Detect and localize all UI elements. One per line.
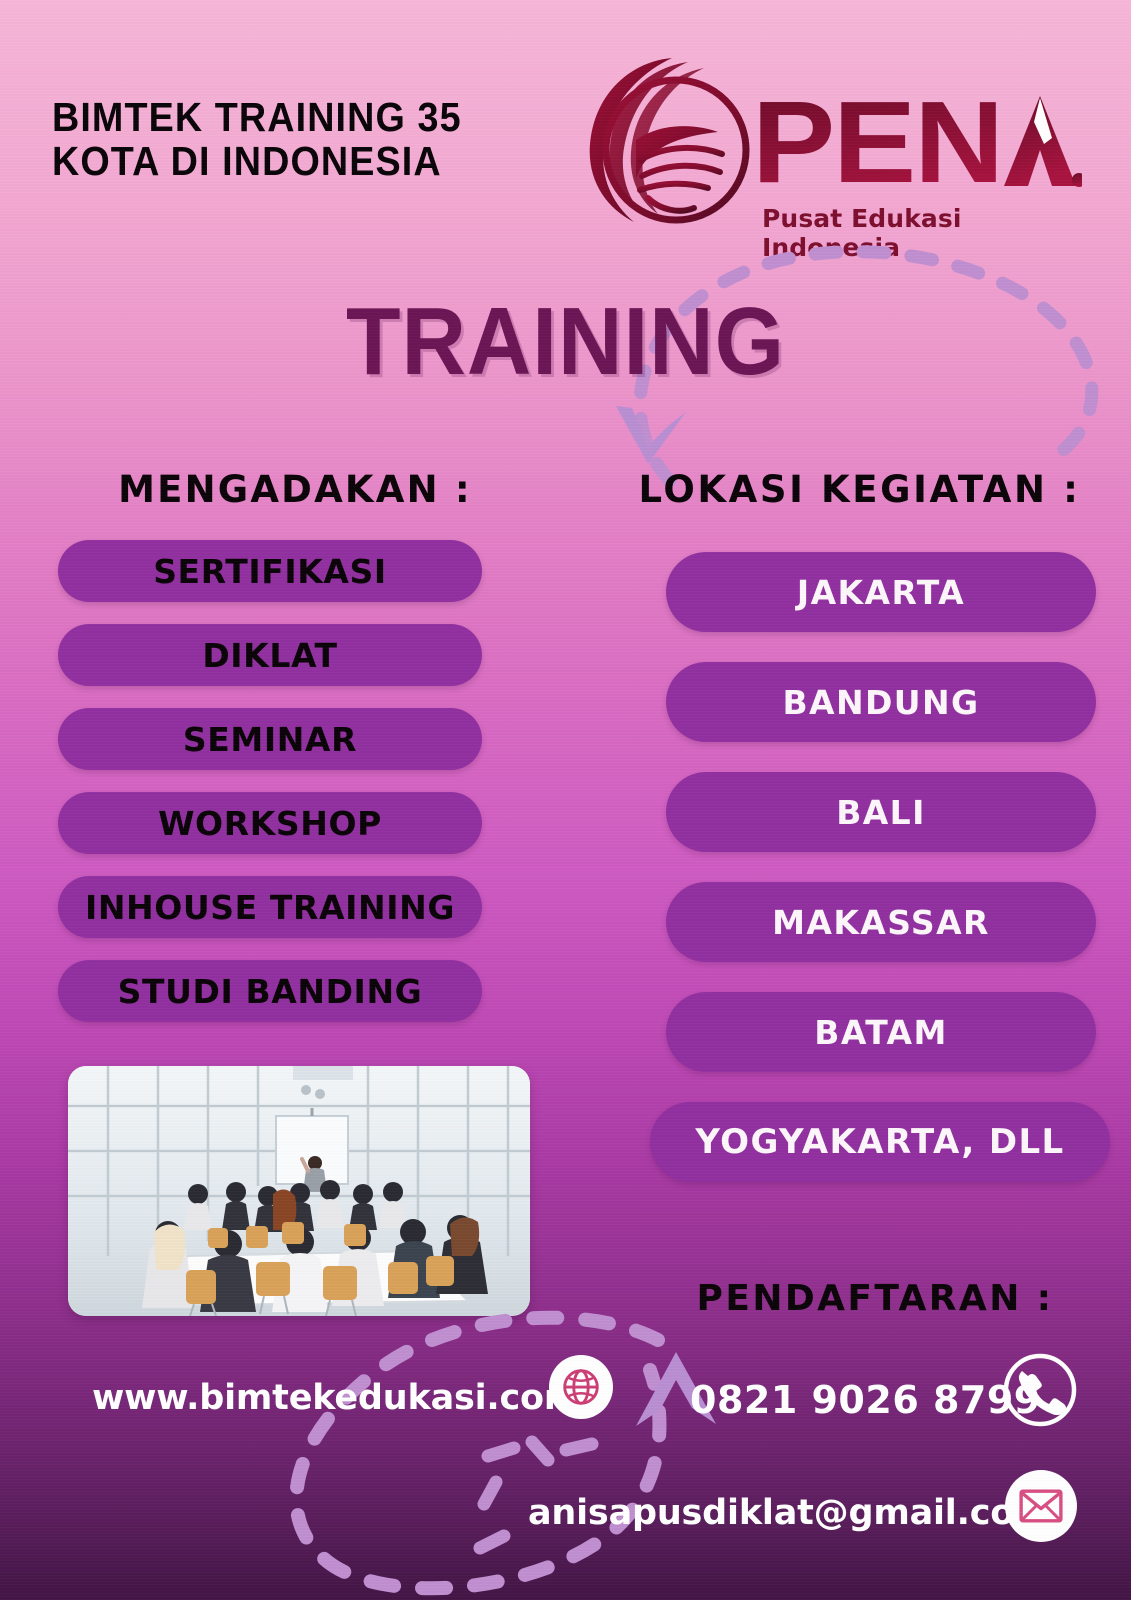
service-pill-studi-banding[interactable]: STUDI BANDING — [58, 960, 482, 1022]
email-text[interactable]: anisapusdiklat@gmail.com — [528, 1493, 1050, 1533]
pena-wordmark-icon: PEN — [752, 82, 1082, 212]
phone-handset-icon — [1019, 1371, 1066, 1415]
service-pill-sertifikasi[interactable]: SERTIFIKASI — [58, 540, 482, 602]
svg-text:PEN: PEN — [752, 82, 1002, 207]
registration-heading: PENDAFTARAN : — [640, 1278, 1110, 1319]
poster-headline: BIMTEK TRAINING 35 KOTA DI INDONESIA — [52, 95, 484, 184]
location-pill-bali[interactable]: BALI — [666, 772, 1096, 852]
globe-icon-button[interactable] — [549, 1355, 613, 1419]
service-pill-diklat[interactable]: DIKLAT — [58, 624, 482, 686]
location-pill-batam[interactable]: BATAM — [666, 992, 1096, 1072]
arrow-down-icon — [608, 390, 698, 480]
service-pill-inhouse-training[interactable]: INHOUSE TRAINING — [58, 876, 482, 938]
service-pill-seminar[interactable]: SEMINAR — [58, 708, 482, 770]
left-column-heading: MENGADAKAN : — [60, 468, 530, 511]
location-pill-yogyakarta-dll[interactable]: YOGYAKARTA, DLL — [650, 1102, 1110, 1182]
seminar-photo — [68, 1066, 530, 1316]
right-column-heading: LOKASI KEGIATAN : — [612, 468, 1107, 511]
website-text[interactable]: www.bimtekedukasi.com — [92, 1378, 580, 1418]
headline-line-2: KOTA DI INDONESIA — [52, 139, 484, 183]
poster-canvas: BIMTEK TRAINING 35 KOTA DI INDONESIA — [0, 0, 1131, 1600]
location-pill-makassar[interactable]: MAKASSAR — [666, 882, 1096, 962]
seminar-room-illustration — [68, 1066, 530, 1316]
page-title: TRAINING — [40, 287, 1092, 397]
phone-text[interactable]: 0821 9026 8799 — [690, 1378, 1041, 1422]
pena-logo: PEN Pusat Edukasi Indonesia — [566, 44, 1086, 229]
envelope-icon — [1019, 1489, 1063, 1523]
feather-circle-emblem-icon — [576, 52, 756, 228]
globe-icon — [558, 1364, 604, 1410]
phone-icon-button[interactable] — [1002, 1352, 1078, 1428]
location-pill-bandung[interactable]: BANDUNG — [666, 662, 1096, 742]
location-pill-jakarta[interactable]: JAKARTA — [666, 552, 1096, 632]
email-icon-button[interactable] — [1005, 1470, 1077, 1542]
service-pill-workshop[interactable]: WORKSHOP — [58, 792, 482, 854]
headline-line-1: BIMTEK TRAINING 35 — [52, 95, 484, 139]
